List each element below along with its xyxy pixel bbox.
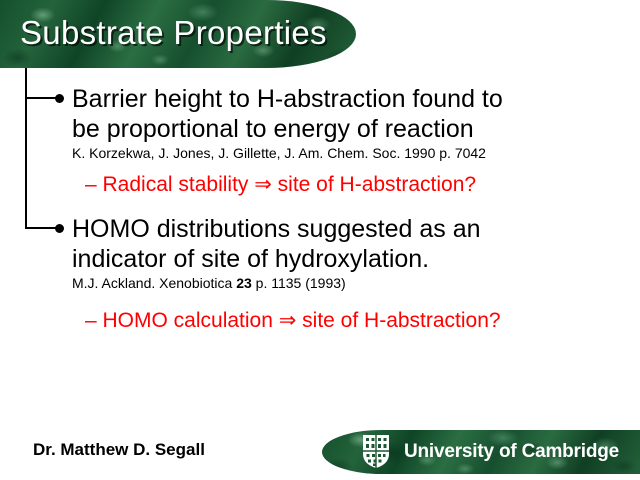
sub-bullet-2: – HOMO calculation ⇒ site of H-abstracti… [85,308,501,333]
bullet-connector-vertical-line [25,68,27,229]
sub-bullet-1: – Radical stability ⇒ site of H-abstract… [85,172,476,197]
slide-title-bar: Substrate Properties [0,0,356,68]
page-title: Substrate Properties [20,14,327,52]
bullet-item-2: HOMO distributions suggested as an indic… [72,214,481,292]
bullet-2-citation-suffix: p. 1135 (1993) [252,275,346,291]
bullet-item-1: Barrier height to H-abstraction found to… [72,84,503,162]
bullet-1-citation: K. Korzekwa, J. Jones, J. Gillette, J. A… [72,145,503,162]
footer-university-name: University of Cambridge [404,441,619,463]
bullet-1-line-2: be proportional to energy of reaction [72,114,503,144]
footer-author-name: Dr. Matthew D. Segall [33,440,205,460]
bullet-connector-branch-2 [25,227,59,229]
bullet-marker-dot-2 [55,224,64,233]
bullet-2-citation-prefix: M.J. Ackland. Xenobiotica [72,275,236,291]
bullet-1-citation-prefix: K. Korzekwa, J. Jones, J. Gillette, J. A… [72,145,486,161]
bullet-2-citation-bold: 23 [236,275,252,291]
bullet-marker-dot-1 [55,94,64,103]
footer-university-banner: University of Cambridge [322,430,640,474]
bullet-connector-branch-1 [25,97,59,99]
bullet-2-line-1: HOMO distributions suggested as an [72,214,481,244]
bullet-2-citation: M.J. Ackland. Xenobiotica 23 p. 1135 (19… [72,275,481,292]
bullet-1-line-1: Barrier height to H-abstraction found to [72,84,503,114]
cambridge-coat-of-arms-icon [362,434,390,469]
bullet-2-line-2: indicator of site of hydroxylation. [72,244,481,274]
